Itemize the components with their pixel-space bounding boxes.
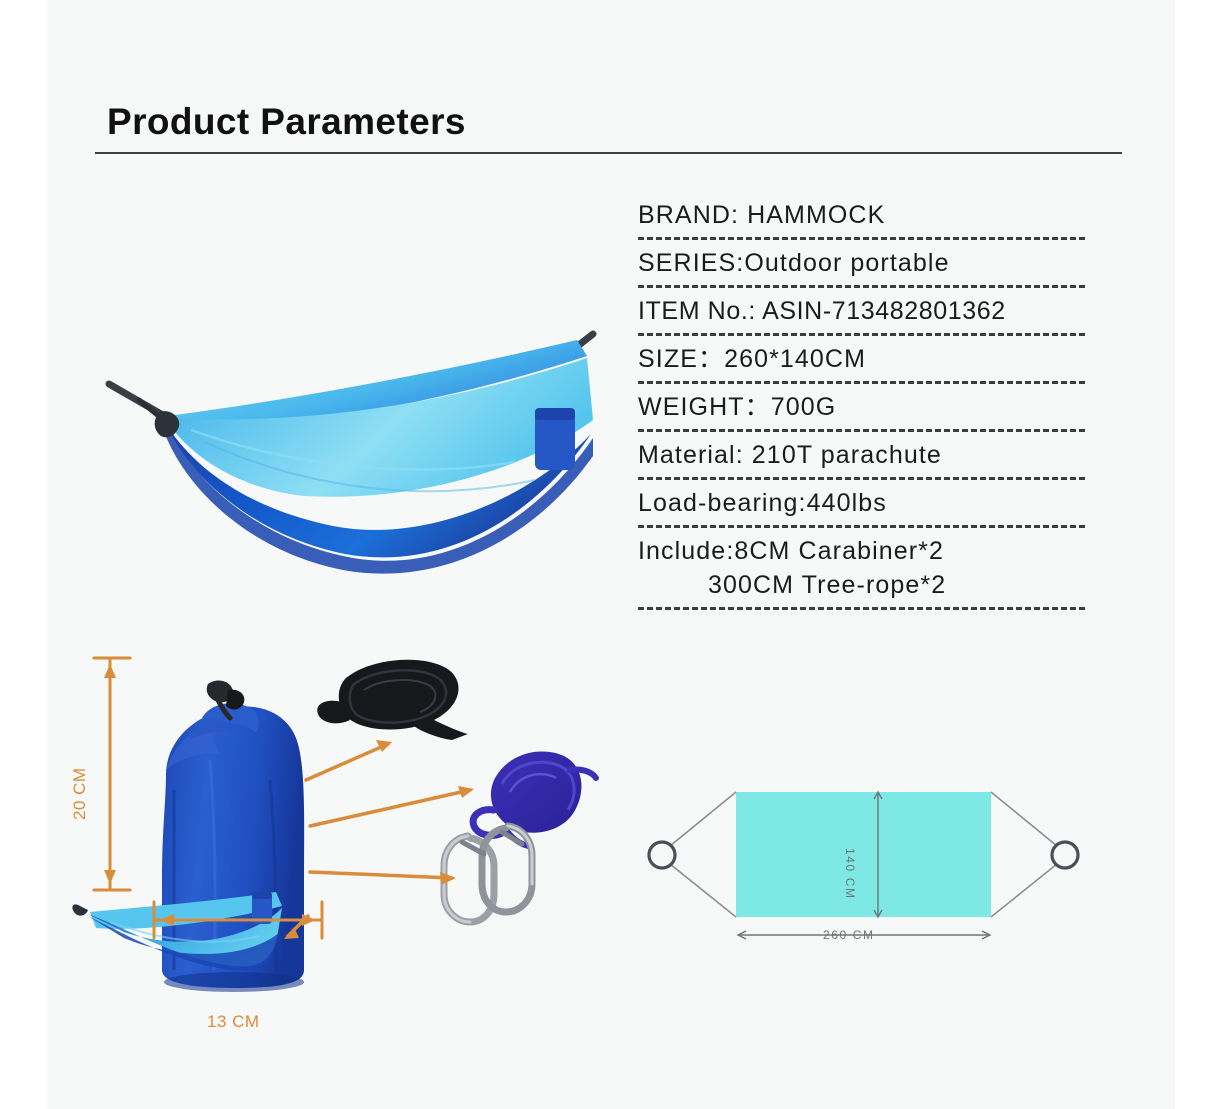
spec-row-divider bbox=[638, 525, 1085, 528]
bag-height-label: 20 CM bbox=[70, 767, 90, 820]
spec-row-divider bbox=[638, 477, 1085, 480]
spec-row-text: WEIGHT：700G bbox=[638, 390, 1090, 424]
right-ring bbox=[1052, 842, 1078, 868]
spec-row-divider bbox=[638, 381, 1085, 384]
spec-row: SIZE：260*140CM bbox=[638, 342, 1090, 390]
tree-strap-item bbox=[317, 660, 468, 740]
spec-row: Load-bearing:440lbs bbox=[638, 486, 1090, 534]
spec-row-text: Material: 210T parachute bbox=[638, 438, 1090, 472]
left-ring bbox=[649, 842, 675, 868]
title-divider bbox=[95, 152, 1122, 154]
spec-row-text: SERIES:Outdoor portable bbox=[638, 246, 1090, 280]
spec-row: WEIGHT：700G bbox=[638, 390, 1090, 438]
spec-row: Include:8CM Carabiner*2300CM Tree-rope*2 bbox=[638, 534, 1090, 616]
callout-arrows bbox=[288, 744, 470, 936]
spec-row-divider bbox=[638, 429, 1085, 432]
spec-row-divider bbox=[638, 607, 1085, 610]
hammock-hero-image bbox=[95, 330, 615, 600]
spec-row: ITEM No.: ASIN-713482801362 bbox=[638, 294, 1090, 342]
page-title: Product Parameters bbox=[107, 101, 466, 143]
spec-row-text: Include:8CM Carabiner*2 bbox=[638, 534, 1090, 568]
spec-row-text: Load-bearing:440lbs bbox=[638, 486, 1090, 520]
spec-row: BRAND: HAMMOCK bbox=[638, 198, 1090, 246]
spec-row-divider bbox=[638, 285, 1085, 288]
spec-row-text: BRAND: HAMMOCK bbox=[638, 198, 1090, 232]
diagram-height-label: 140 CM bbox=[843, 848, 857, 900]
bag-width-label: 13 CM bbox=[207, 1012, 260, 1032]
spec-row: Material: 210T parachute bbox=[638, 438, 1090, 486]
diagram-width-label: 260 CM bbox=[823, 928, 875, 942]
spec-row-subtext: 300CM Tree-rope*2 bbox=[638, 568, 1090, 602]
spec-list: BRAND: HAMMOCKSERIES:Outdoor portableITE… bbox=[638, 198, 1090, 616]
diagram-fabric-panel bbox=[736, 792, 991, 917]
carabiner-item bbox=[444, 826, 532, 922]
spec-row-text: SIZE：260*140CM bbox=[638, 342, 1090, 376]
spec-row-text: ITEM No.: ASIN-713482801362 bbox=[638, 294, 1090, 328]
spec-row-divider bbox=[638, 237, 1085, 240]
spec-row: SERIES:Outdoor portable bbox=[638, 246, 1090, 294]
product-parameters-page: Product Parameters bbox=[0, 0, 1214, 1109]
spec-row-divider bbox=[638, 333, 1085, 336]
package-contents-illustration bbox=[70, 640, 600, 1050]
